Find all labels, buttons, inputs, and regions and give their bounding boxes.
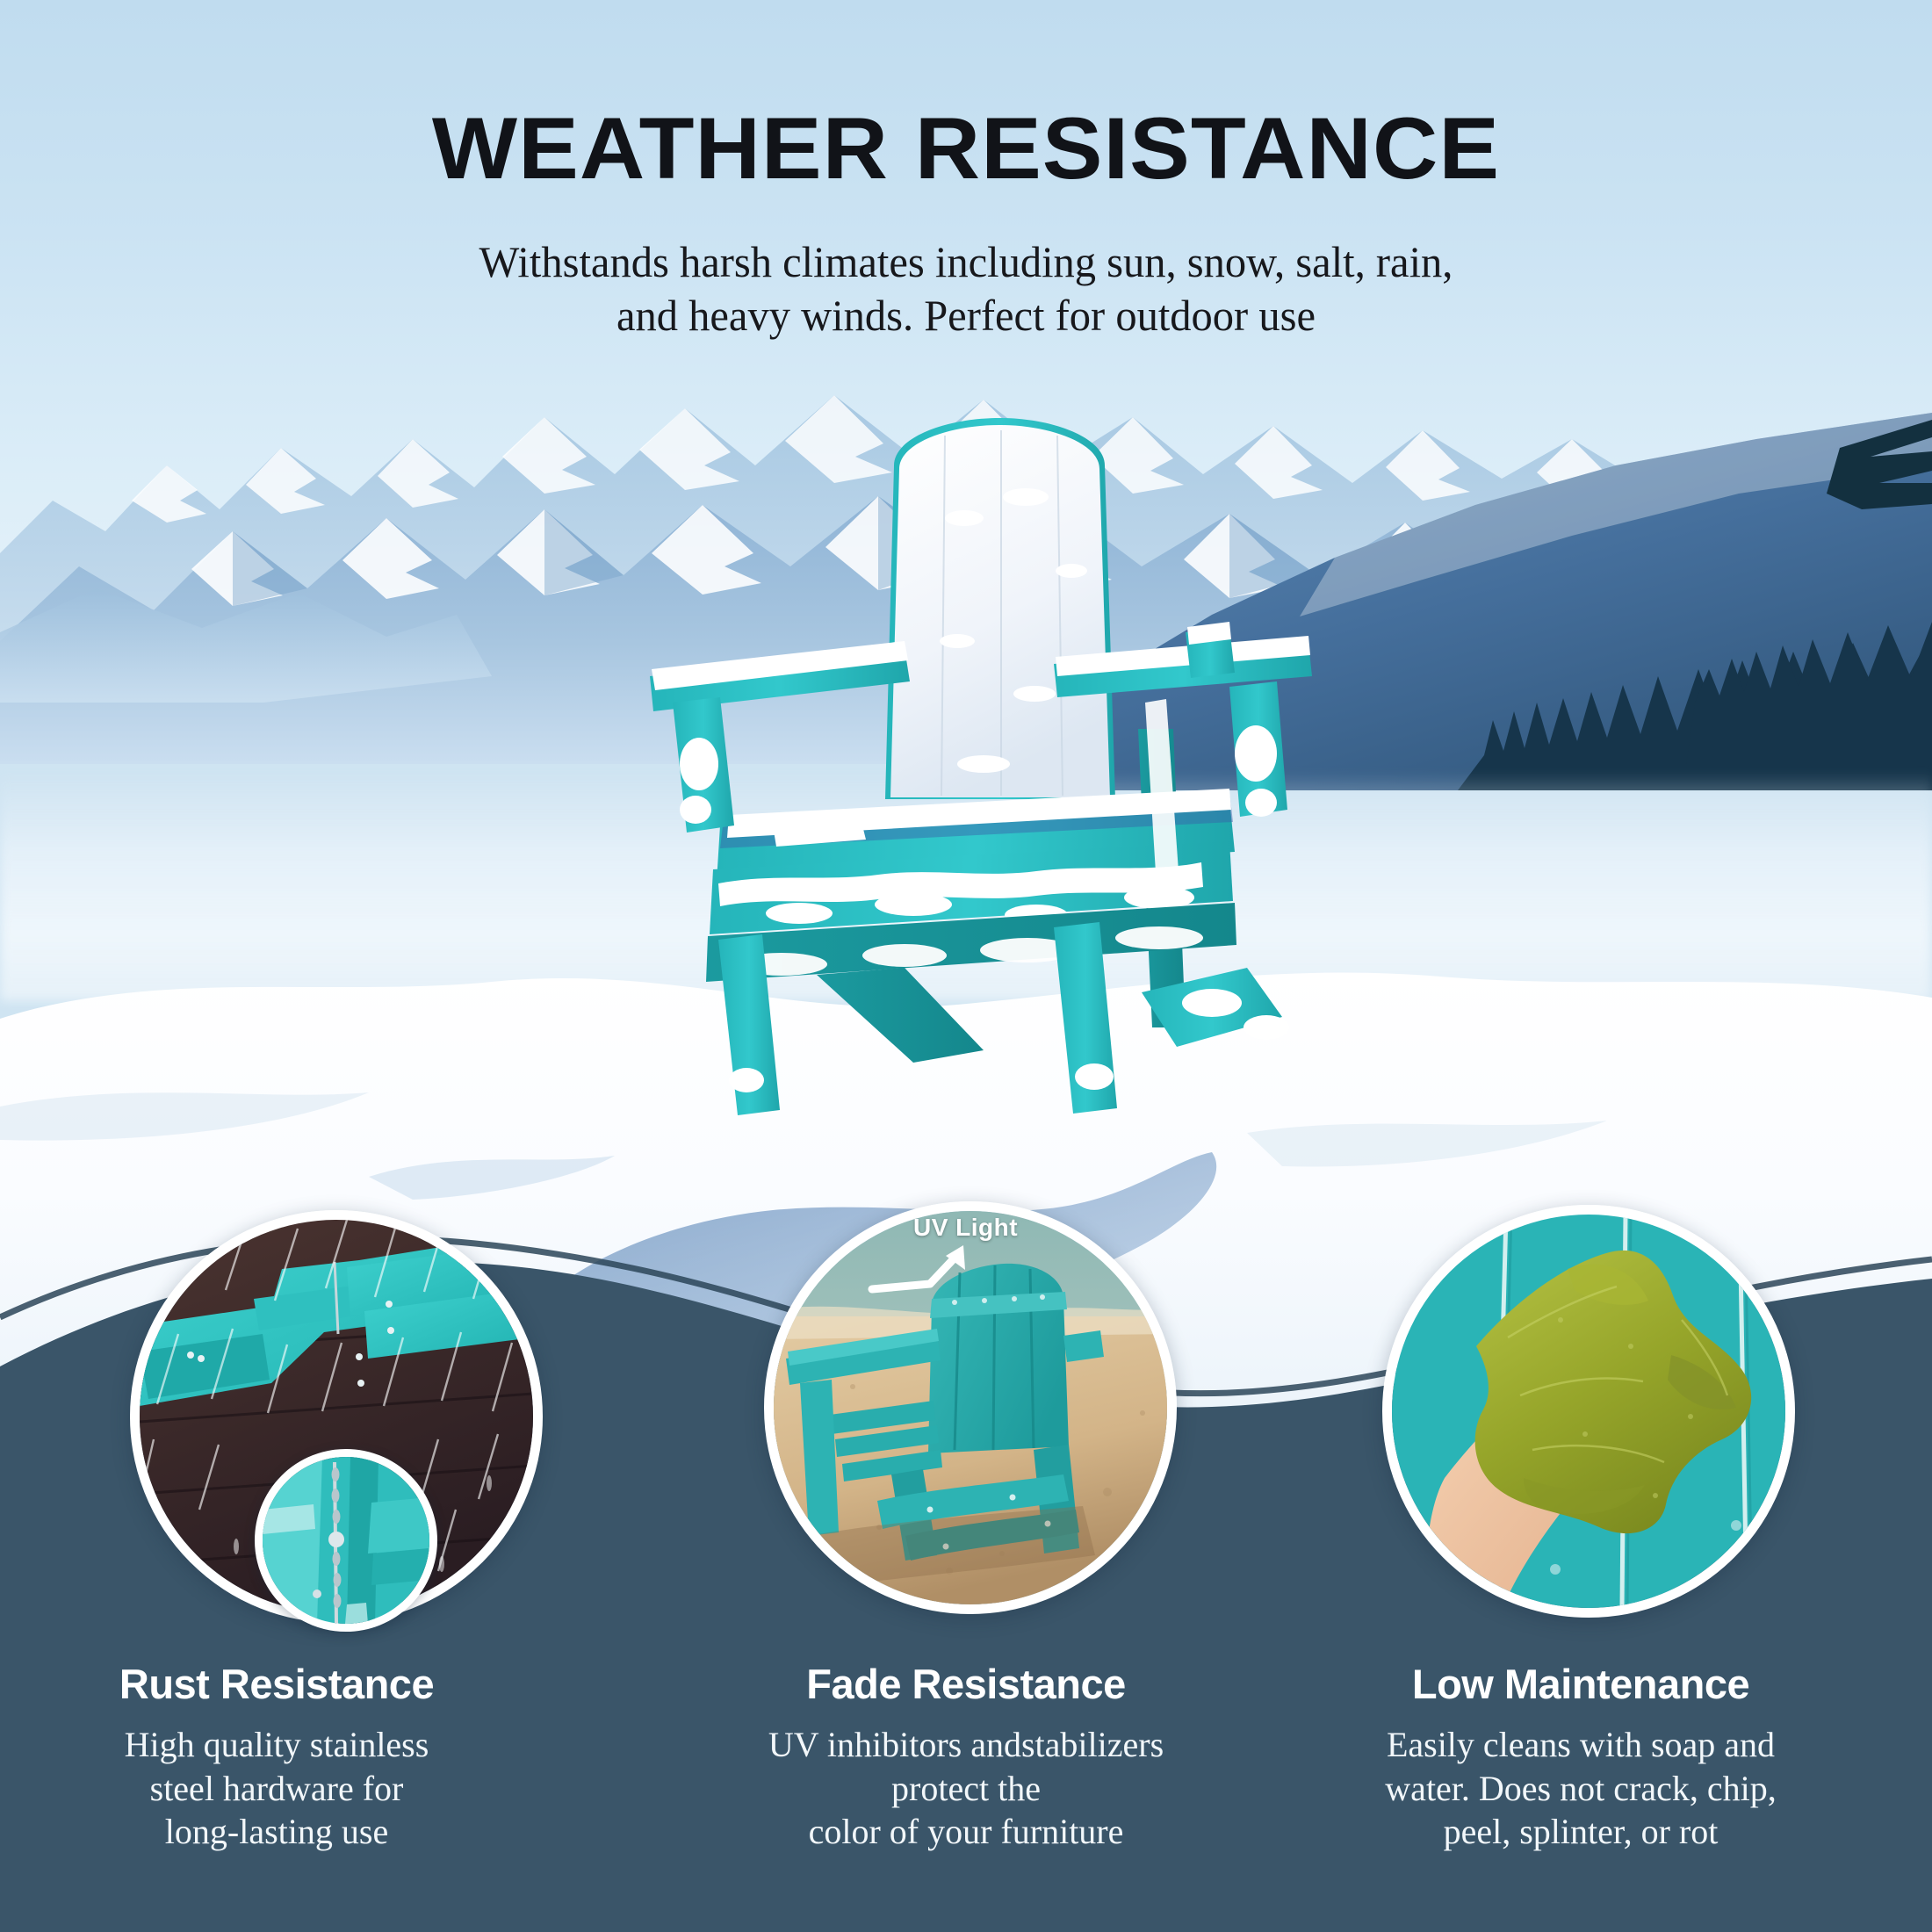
desc-line-2: water. Does not crack, chip, <box>1317 1767 1844 1811</box>
hand-wiping-slats-image <box>1392 1215 1785 1608</box>
feature-description-low-maintenance: Easily cleans with soap and water. Does … <box>1317 1723 1844 1854</box>
feature-title-fade-resistance: Fade Resistance <box>703 1660 1229 1708</box>
desc-line-1: UV inhibitors andstabilizers <box>703 1723 1229 1767</box>
uv-light-arrow-icon <box>865 1240 979 1310</box>
feature-description-rust-resistance: High quality stainless steel hardware fo… <box>13 1723 540 1854</box>
desc-line-1: Easily cleans with soap and <box>1317 1723 1844 1767</box>
subtitle-line-2: and heavy winds. Perfect for outdoor use <box>29 289 1903 342</box>
feature-description-fade-resistance: UV inhibitors andstabilizers protect the… <box>703 1723 1229 1854</box>
desc-line-2: steel hardware for <box>13 1767 540 1811</box>
feature-card-fade-resistance: Fade Resistance UV inhibitors andstabili… <box>703 1660 1229 1854</box>
page-subtitle: Withstands harsh climates including sun,… <box>29 235 1903 342</box>
subtitle-line-1: Withstands harsh climates including sun,… <box>29 235 1903 289</box>
desc-line-3: color of your furniture <box>703 1810 1229 1854</box>
desc-line-2: protect the <box>703 1767 1229 1811</box>
inset-hardware-detail-rust-resistance[interactable] <box>255 1449 437 1632</box>
feature-card-rust-resistance: Rust Resistance High quality stainless s… <box>13 1660 540 1854</box>
desc-line-3: peel, splinter, or rot <box>1317 1810 1844 1854</box>
desc-line-3: long-lasting use <box>13 1810 540 1854</box>
uv-light-annotation-label: UV Light <box>913 1214 1018 1242</box>
stainless-chain-closeup-image <box>263 1457 429 1624</box>
feature-title-low-maintenance: Low Maintenance <box>1317 1660 1844 1708</box>
feature-title-rust-resistance: Rust Resistance <box>13 1660 540 1708</box>
marketing-banner: WEATHER RESISTANCE Withstands harsh clim… <box>0 0 1932 1932</box>
hero-snow-covered-adirondack-chair <box>615 413 1335 1133</box>
desc-line-1: High quality stainless <box>13 1723 540 1767</box>
feature-card-low-maintenance: Low Maintenance Easily cleans with soap … <box>1317 1660 1844 1854</box>
feature-image-low-maintenance[interactable] <box>1382 1205 1795 1618</box>
page-title: WEATHER RESISTANCE <box>0 98 1932 198</box>
